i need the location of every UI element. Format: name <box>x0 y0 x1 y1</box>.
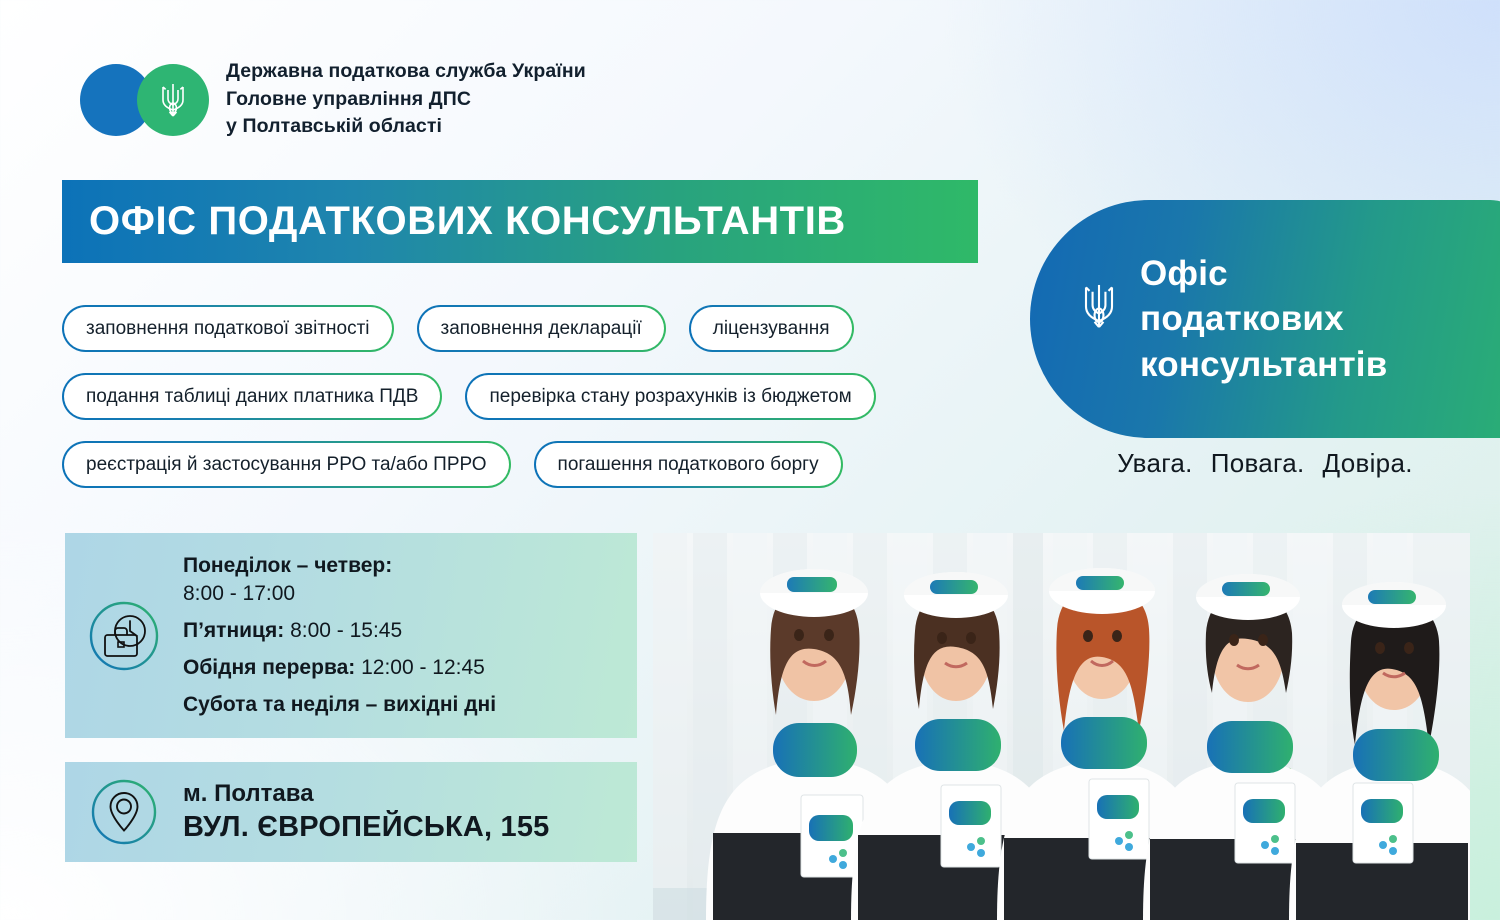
team-photo <box>653 533 1470 920</box>
trident-icon <box>1080 280 1118 332</box>
organization-name: Державна податкова служба України Головн… <box>226 58 586 141</box>
service-pill[interactable]: заповнення податкової звітності <box>62 305 394 352</box>
schedule-weekdays-hours: 8:00 - 17:00 <box>183 582 295 605</box>
schedule-lines: Понеділок – четвер: 8:00 - 17:00 П’ятниц… <box>183 552 637 719</box>
service-pill-label: заповнення декларації <box>419 307 664 350</box>
badge-line-3: консультантів <box>1140 342 1387 388</box>
address-block: м. Полтава ВУЛ. ЄВРОПЕЙСЬКА, 155 <box>65 762 637 862</box>
services-row-1: заповнення податкової звітності заповнен… <box>62 305 1012 352</box>
service-pill[interactable]: подання таблиці даних платника ПДВ <box>62 373 442 420</box>
clock-briefcase-icon <box>87 599 161 673</box>
service-pill[interactable]: реєстрація й застосування РРО та/або ПРР… <box>62 441 511 488</box>
schedule-weekend: Субота та неділя – вихідні дні <box>183 691 623 719</box>
title-banner: ОФІС ПОДАТКОВИХ КОНСУЛЬТАНТІВ <box>62 180 978 263</box>
location-icon-wrap <box>65 776 183 848</box>
org-line-2: Головне управління ДПС <box>226 86 586 114</box>
tagline: Увага.Повага.Довіра. <box>1030 448 1500 479</box>
service-pill[interactable]: погашення податкового боргу <box>534 441 843 488</box>
services-row-2: подання таблиці даних платника ПДВ перев… <box>62 373 1012 420</box>
badge-line-2: податкових <box>1140 296 1387 342</box>
schedule-friday-hours: 8:00 - 15:45 <box>290 619 402 642</box>
service-pill-label: перевірка стану розрахунків із бюджетом <box>467 375 873 418</box>
schedule-weekdays: Понеділок – четвер: 8:00 - 17:00 <box>183 552 623 608</box>
service-pill-label: реєстрація й застосування РРО та/або ПРР… <box>64 443 509 486</box>
address-city: м. Полтава <box>183 778 550 809</box>
organization-logo-header: Державна податкова служба України Головн… <box>80 58 586 141</box>
brand-badge: Офіс податкових консультантів <box>1030 200 1500 438</box>
service-pill-label: заповнення податкової звітності <box>64 307 392 350</box>
service-pill[interactable]: перевірка стану розрахунків із бюджетом <box>465 373 875 420</box>
service-pill[interactable]: ліцензування <box>689 305 854 352</box>
schedule-friday: П’ятниця: 8:00 - 15:45 <box>183 617 623 645</box>
schedule-friday-label: П’ятниця: <box>183 619 284 642</box>
logo-marks <box>80 64 220 136</box>
schedule-weekend-label: Субота та неділя – вихідні дні <box>183 693 496 716</box>
poster-root: Державна податкова служба України Головн… <box>0 0 1500 920</box>
working-hours-icon-wrap <box>65 599 183 673</box>
service-pill-label: подання таблиці даних платника ПДВ <box>64 375 440 418</box>
org-line-3: у Полтавській області <box>226 113 586 141</box>
service-pill[interactable]: заповнення декларації <box>417 305 666 352</box>
tagline-word-3: Довіра. <box>1323 448 1413 478</box>
schedule-lunch-hours: 12:00 - 12:45 <box>361 656 485 679</box>
badge-line-1: Офіс <box>1140 251 1387 297</box>
schedule-lunch: Обідня перерва: 12:00 - 12:45 <box>183 654 623 682</box>
page-title: ОФІС ПОДАТКОВИХ КОНСУЛЬТАНТІВ <box>62 199 846 244</box>
service-pill-label: ліцензування <box>691 307 852 350</box>
schedule-weekdays-label: Понеділок – четвер: <box>183 554 392 577</box>
brand-badge-text: Офіс податкових консультантів <box>1140 251 1387 388</box>
services-row-3: реєстрація й застосування РРО та/або ПРР… <box>62 441 1012 488</box>
logo-trident-circle-icon <box>137 64 209 136</box>
tagline-word-2: Повага. <box>1211 448 1305 478</box>
services-list: заповнення податкової звітності заповнен… <box>62 305 1012 509</box>
tagline-word-1: Увага. <box>1117 448 1192 478</box>
schedule-block: Понеділок – четвер: 8:00 - 17:00 П’ятниц… <box>65 533 637 738</box>
address-lines: м. Полтава ВУЛ. ЄВРОПЕЙСЬКА, 155 <box>183 778 550 845</box>
address-street: ВУЛ. ЄВРОПЕЙСЬКА, 155 <box>183 809 550 845</box>
map-pin-icon <box>88 776 160 848</box>
org-line-1: Державна податкова служба України <box>226 58 586 86</box>
service-pill-label: погашення податкового боргу <box>536 443 841 486</box>
schedule-lunch-label: Обідня перерва: <box>183 656 355 679</box>
